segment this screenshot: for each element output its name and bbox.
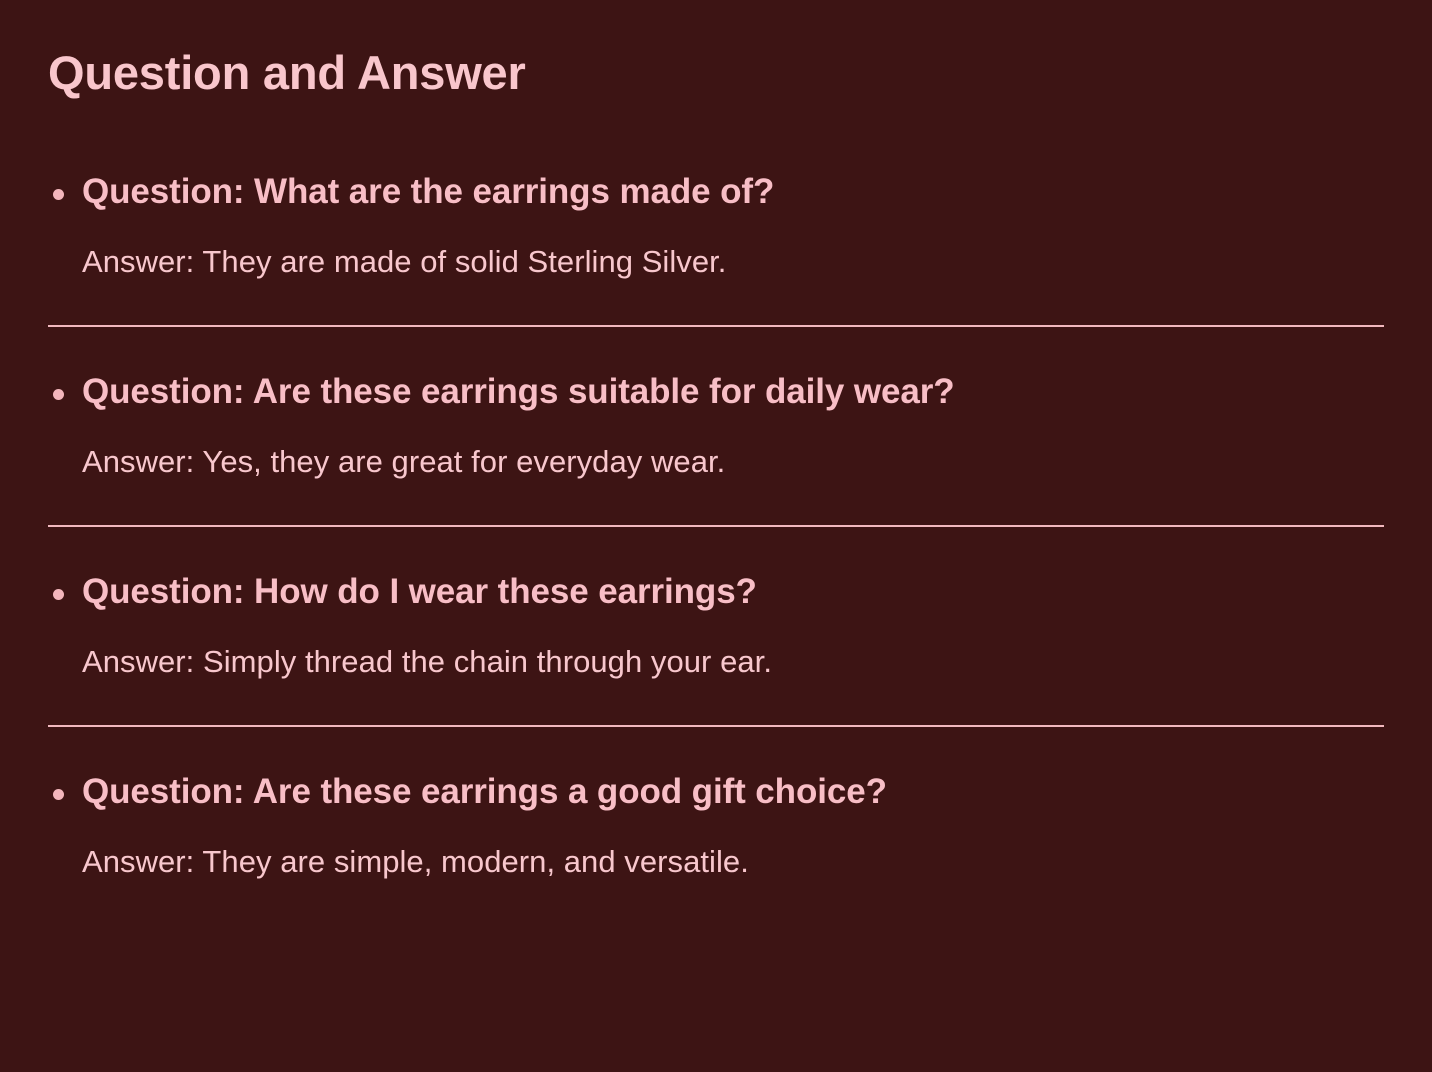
qa-question: Question: How do I wear these earrings? bbox=[82, 570, 1384, 614]
qa-question: Question: What are the earrings made of? bbox=[82, 170, 1384, 214]
qa-spacer bbox=[48, 327, 1384, 370]
qa-spacer bbox=[48, 527, 1384, 570]
qa-page: Question and Answer Question: What are t… bbox=[0, 0, 1432, 1072]
qa-question: Question: Are these earrings a good gift… bbox=[82, 770, 1384, 814]
qa-question: Question: Are these earrings suitable fo… bbox=[82, 370, 1384, 414]
qa-body: Question: Are these earrings a good gift… bbox=[48, 770, 1384, 882]
qa-item: Question: Are these earrings a good gift… bbox=[0, 727, 1432, 882]
bullet-dot-icon bbox=[53, 389, 64, 400]
qa-answer: Answer: They are made of solid Sterling … bbox=[82, 243, 1384, 282]
page-title: Question and Answer bbox=[48, 46, 526, 100]
qa-body: Question: What are the earrings made of?… bbox=[48, 170, 1384, 282]
qa-item: Question: Are these earrings suitable fo… bbox=[0, 327, 1432, 482]
bullet-dot-icon bbox=[53, 189, 64, 200]
qa-list: Question: What are the earrings made of?… bbox=[0, 170, 1432, 881]
bullet-dot-icon bbox=[53, 589, 64, 600]
qa-item: Question: What are the earrings made of?… bbox=[0, 170, 1432, 282]
qa-answer: Answer: Yes, they are great for everyday… bbox=[82, 443, 1384, 482]
qa-answer: Answer: They are simple, modern, and ver… bbox=[82, 843, 1384, 882]
qa-body: Question: Are these earrings suitable fo… bbox=[48, 370, 1384, 482]
qa-item: Question: How do I wear these earrings? … bbox=[0, 527, 1432, 682]
qa-answer: Answer: Simply thread the chain through … bbox=[82, 643, 1384, 682]
qa-spacer bbox=[48, 727, 1384, 770]
qa-body: Question: How do I wear these earrings? … bbox=[48, 570, 1384, 682]
bullet-dot-icon bbox=[53, 789, 64, 800]
